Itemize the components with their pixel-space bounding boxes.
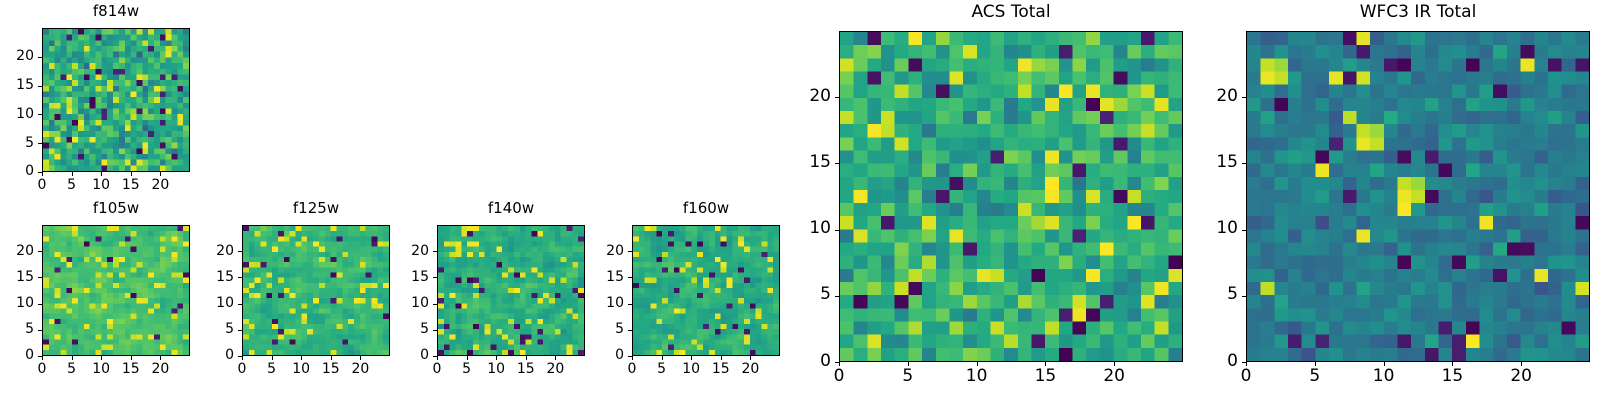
xtick-label-wfc3-ir-total-15: 15 bbox=[1427, 368, 1477, 385]
figure-canvas: f814w0510152005101520f105w05101520051015… bbox=[0, 0, 1600, 400]
ytick-mark-wfc3-ir-total-15 bbox=[1242, 163, 1246, 164]
ytick-mark-wfc3-ir-total-20 bbox=[1242, 97, 1246, 98]
panel-title-wfc3-ir-total: WFC3 IR Total bbox=[1246, 4, 1590, 21]
ytick-label-wfc3-ir-total-10: 10 bbox=[1192, 220, 1238, 237]
xtick-label-wfc3-ir-total-20: 20 bbox=[1496, 368, 1546, 385]
plot-area-wfc3-ir-total bbox=[1246, 31, 1590, 362]
ytick-mark-wfc3-ir-total-5 bbox=[1242, 296, 1246, 297]
panel-wfc3-ir-total: WFC3 IR Total0510152005101520 bbox=[0, 0, 1600, 400]
heatmap-image-wfc3-ir-total bbox=[1247, 32, 1589, 361]
xtick-label-wfc3-ir-total-5: 5 bbox=[1290, 368, 1340, 385]
ytick-mark-wfc3-ir-total-10 bbox=[1242, 230, 1246, 231]
xtick-label-wfc3-ir-total-10: 10 bbox=[1359, 368, 1409, 385]
ytick-label-wfc3-ir-total-20: 20 bbox=[1192, 88, 1238, 105]
ytick-label-wfc3-ir-total-5: 5 bbox=[1192, 286, 1238, 303]
ytick-label-wfc3-ir-total-15: 15 bbox=[1192, 154, 1238, 171]
xtick-label-wfc3-ir-total-0: 0 bbox=[1221, 368, 1271, 385]
